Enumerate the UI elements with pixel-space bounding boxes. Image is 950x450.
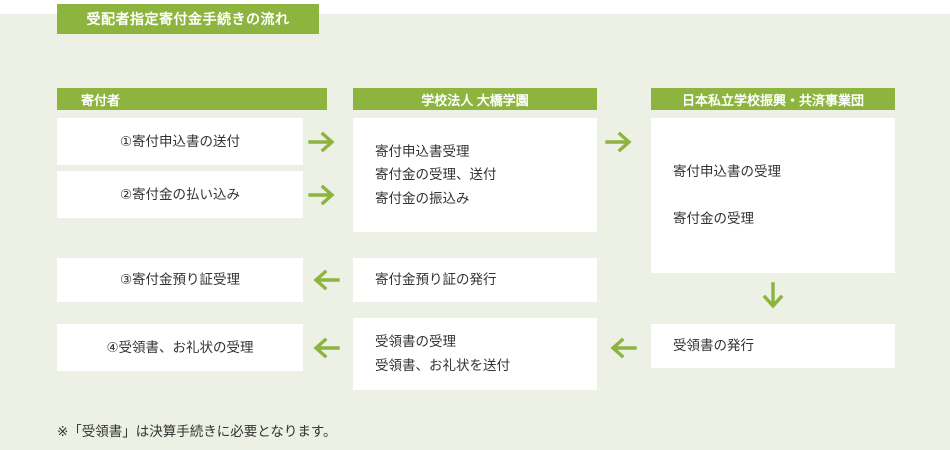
step-box-donor-1: ①寄付申込書の送付 bbox=[57, 118, 303, 165]
step-box-donor-3: ③寄付金預り証受理 bbox=[57, 258, 303, 302]
page-title: 受配者指定寄付金手続きの流れ bbox=[87, 9, 290, 29]
step-text: 受領書、お礼状を送付 bbox=[375, 354, 597, 378]
step-box-school-2: 寄付金預り証の発行 bbox=[353, 258, 597, 302]
step-text: 寄付申込書受理 bbox=[375, 140, 597, 164]
step-text: ③寄付金預り証受理 bbox=[120, 268, 240, 292]
step-text: 寄付金の受理、送付 bbox=[375, 163, 597, 187]
step-box-agency-2: 受領書の発行 bbox=[651, 324, 895, 368]
step-text: ①寄付申込書の送付 bbox=[120, 130, 240, 154]
arrow-left-icon bbox=[307, 331, 341, 365]
arrow-left-icon bbox=[604, 331, 638, 365]
step-text: 寄付申込書の受理 bbox=[673, 160, 895, 184]
step-box-donor-2: ②寄付金の払い込み bbox=[57, 171, 303, 218]
column-header-donor: 寄付者 bbox=[57, 88, 327, 110]
arrow-right-icon bbox=[307, 125, 341, 159]
arrow-right-icon bbox=[307, 178, 341, 212]
arrow-left-icon bbox=[307, 263, 341, 297]
step-text: 受領書の受理 bbox=[375, 330, 597, 354]
diagram-title-bar: 受配者指定寄付金手続きの流れ bbox=[57, 4, 319, 34]
column-header-school: 学校法人 大橋学園 bbox=[353, 88, 597, 110]
column-header-school-label: 学校法人 大橋学園 bbox=[421, 90, 529, 109]
column-header-donor-label: 寄付者 bbox=[81, 90, 120, 109]
step-text: ②寄付金の払い込み bbox=[120, 183, 240, 207]
column-header-agency: 日本私立学校振興・共済事業団 bbox=[651, 88, 895, 110]
step-text: 受領書の発行 bbox=[673, 334, 895, 358]
step-text: 寄付金の振込み bbox=[375, 187, 597, 211]
step-box-school-1: 寄付申込書受理 寄付金の受理、送付 寄付金の振込み bbox=[353, 118, 597, 232]
footnote: ※「受領書」は決算手続きに必要となります。 bbox=[57, 420, 337, 440]
arrow-right-icon bbox=[604, 125, 638, 159]
step-box-school-3: 受領書の受理 受領書、お礼状を送付 bbox=[353, 318, 597, 390]
step-text: 寄付金預り証の発行 bbox=[375, 268, 597, 292]
step-box-donor-4: ④受領書、お礼状の受理 bbox=[57, 324, 303, 371]
step-spacer bbox=[673, 184, 895, 208]
arrow-down-icon bbox=[756, 281, 790, 315]
step-text: 寄付金の受理 bbox=[673, 207, 895, 231]
column-header-agency-label: 日本私立学校振興・共済事業団 bbox=[682, 90, 864, 109]
diagram-canvas: 受配者指定寄付金手続きの流れ 寄付者 学校法人 大橋学園 日本私立学校振興・共済… bbox=[0, 0, 950, 450]
step-box-agency-1: 寄付申込書の受理 寄付金の受理 bbox=[651, 118, 895, 273]
step-text: ④受領書、お礼状の受理 bbox=[106, 336, 253, 360]
